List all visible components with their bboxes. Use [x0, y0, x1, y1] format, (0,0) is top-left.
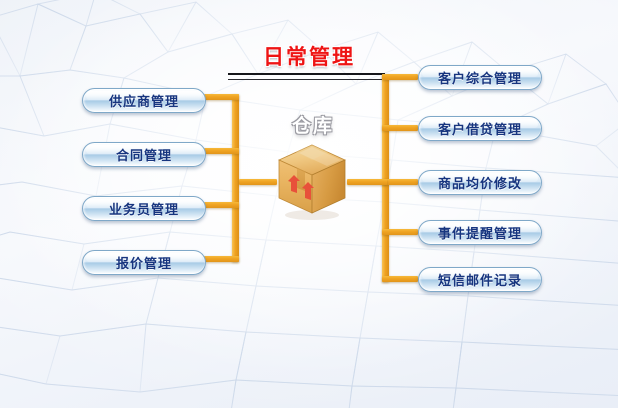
button-sms-email-log[interactable]: 短信邮件记录 — [418, 267, 542, 292]
right-bracket-arm-5 — [382, 276, 418, 282]
button-label: 事件提醒管理 — [438, 223, 522, 242]
left-bracket-arm-3 — [204, 202, 239, 208]
right-bracket-spine — [382, 74, 389, 282]
left-bracket-arm-1 — [204, 94, 239, 100]
button-customer-loan-management[interactable]: 客户借贷管理 — [418, 116, 542, 141]
cardboard-box-icon — [275, 141, 349, 221]
button-label: 业务员管理 — [109, 199, 179, 218]
right-bracket-center-stub — [347, 179, 387, 185]
button-label: 合同管理 — [116, 145, 172, 164]
right-bracket-arm-2 — [382, 125, 418, 131]
left-bracket-arm-2 — [204, 148, 239, 154]
left-bracket-arm-4 — [204, 256, 239, 262]
button-label: 报价管理 — [116, 253, 172, 272]
button-quotation-management[interactable]: 报价管理 — [82, 250, 206, 275]
button-salesperson-management[interactable]: 业务员管理 — [82, 196, 206, 221]
title-underline-rule — [228, 73, 385, 80]
button-event-reminder-management[interactable]: 事件提醒管理 — [418, 220, 542, 245]
button-label: 客户借贷管理 — [438, 119, 522, 138]
button-label: 商品均价修改 — [438, 173, 522, 192]
button-label: 短信邮件记录 — [438, 270, 522, 289]
button-contract-management[interactable]: 合同管理 — [82, 142, 206, 167]
right-bracket-arm-3 — [382, 179, 418, 185]
button-label: 供应商管理 — [109, 91, 179, 110]
right-bracket-arm-4 — [382, 229, 418, 235]
diagram-canvas: 日常管理 仓库 — [0, 0, 618, 408]
right-bracket-arm-1 — [382, 74, 418, 80]
center-node-label: 仓库 — [278, 111, 348, 138]
left-bracket-spine — [232, 94, 239, 262]
button-label: 客户综合管理 — [438, 68, 522, 87]
button-supplier-management[interactable]: 供应商管理 — [82, 88, 206, 113]
left-bracket-center-stub — [239, 179, 277, 185]
button-product-average-price-edit[interactable]: 商品均价修改 — [418, 170, 542, 195]
button-customer-overall-management[interactable]: 客户综合管理 — [418, 65, 542, 90]
